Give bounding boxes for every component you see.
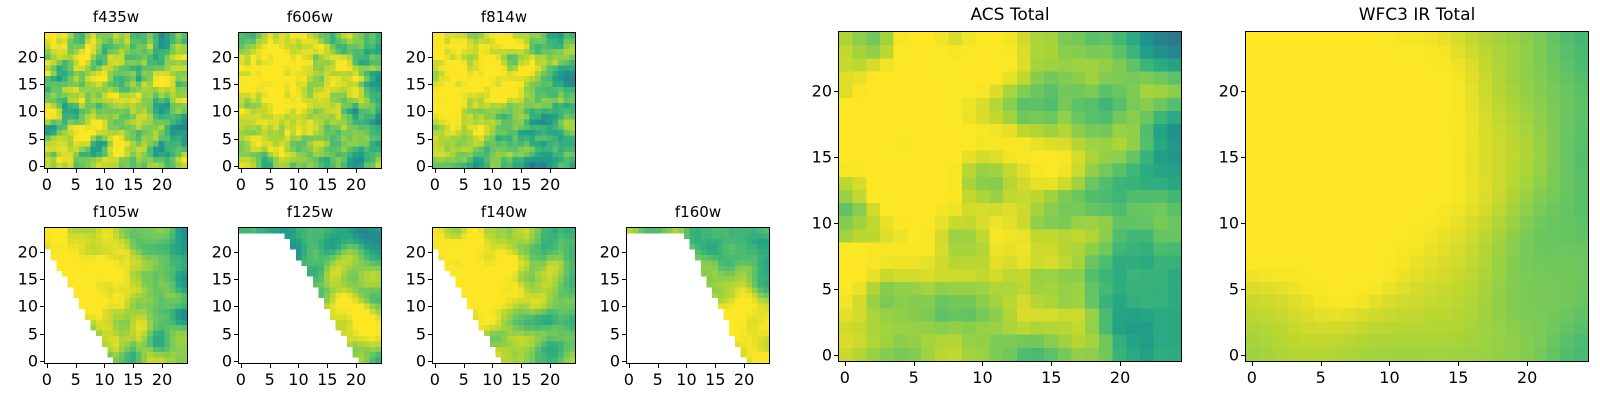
y-tick-mark — [428, 334, 432, 335]
y-tick-mark — [40, 334, 44, 335]
y-tick-mark — [834, 223, 838, 224]
x-tick-mark — [1120, 362, 1121, 366]
y-tick-label: 0 — [1199, 346, 1239, 365]
y-tick-label: 15 — [192, 75, 232, 94]
y-tick-label: 20 — [192, 47, 232, 66]
panel-title-f160w: f160w — [626, 203, 770, 221]
plot-area-f105w — [44, 227, 188, 364]
x-tick-label: 20 — [152, 370, 172, 389]
plot-area-f140w — [432, 227, 576, 364]
x-tick-label: 10 — [482, 175, 502, 194]
x-tick-label: 10 — [1379, 368, 1399, 387]
y-tick-mark — [622, 361, 626, 362]
x-tick-mark — [162, 169, 163, 173]
y-tick-mark — [40, 306, 44, 307]
heatmap-image-f814w — [433, 33, 575, 168]
x-tick-label: 5 — [71, 370, 81, 389]
x-tick-label: 20 — [346, 175, 366, 194]
x-tick-label: 10 — [94, 175, 114, 194]
y-tick-label: 0 — [386, 352, 426, 371]
x-tick-mark — [1252, 362, 1253, 366]
x-tick-mark — [521, 169, 522, 173]
x-tick-mark — [550, 364, 551, 368]
heatmap-image-f140w — [433, 228, 575, 363]
y-tick-label: 20 — [1199, 81, 1239, 100]
x-tick-label: 10 — [676, 370, 696, 389]
heatmap-image-f125w — [239, 228, 381, 363]
x-tick-label: 10 — [482, 370, 502, 389]
y-tick-label: 5 — [192, 129, 232, 148]
x-tick-mark — [104, 169, 105, 173]
y-tick-label: 15 — [792, 147, 832, 166]
y-tick-label: 20 — [386, 242, 426, 261]
x-tick-label: 10 — [972, 368, 992, 387]
y-tick-label: 15 — [580, 270, 620, 289]
x-tick-mark — [298, 364, 299, 368]
y-tick-mark — [834, 91, 838, 92]
x-tick-label: 10 — [288, 175, 308, 194]
y-tick-mark — [428, 111, 432, 112]
y-tick-mark — [234, 57, 238, 58]
x-tick-label: 0 — [42, 175, 52, 194]
heatmap-image-f606w — [239, 33, 381, 168]
x-tick-mark — [914, 362, 915, 366]
y-tick-label: 10 — [0, 102, 38, 121]
y-tick-mark — [1241, 223, 1245, 224]
y-tick-mark — [834, 157, 838, 158]
x-tick-label: 15 — [511, 175, 531, 194]
y-tick-label: 20 — [386, 47, 426, 66]
plot-area-wfc3_ir_total — [1245, 31, 1589, 362]
x-tick-label: 20 — [1517, 368, 1537, 387]
x-tick-label: 0 — [1247, 368, 1257, 387]
x-tick-mark — [464, 364, 465, 368]
heatmap-image-wfc3_ir_total — [1246, 32, 1588, 361]
y-tick-mark — [834, 355, 838, 356]
y-tick-label: 10 — [386, 102, 426, 121]
x-tick-label: 15 — [1448, 368, 1468, 387]
x-tick-mark — [327, 169, 328, 173]
x-tick-label: 0 — [236, 175, 246, 194]
figure-canvas: f435w0510152005101520f606w05101520051015… — [0, 0, 1600, 400]
x-tick-mark — [356, 169, 357, 173]
plot-area-f435w — [44, 32, 188, 169]
x-tick-mark — [133, 364, 134, 368]
x-tick-label: 15 — [317, 175, 337, 194]
x-tick-label: 5 — [265, 175, 275, 194]
x-tick-label: 0 — [42, 370, 52, 389]
y-tick-label: 10 — [0, 297, 38, 316]
y-tick-label: 10 — [1199, 213, 1239, 232]
y-tick-label: 10 — [192, 102, 232, 121]
y-tick-label: 0 — [792, 346, 832, 365]
plot-area-acs_total — [838, 31, 1182, 362]
x-tick-label: 5 — [653, 370, 663, 389]
y-tick-label: 5 — [792, 280, 832, 299]
heatmap-image-f435w — [45, 33, 187, 168]
x-tick-mark — [104, 364, 105, 368]
x-tick-label: 20 — [1110, 368, 1130, 387]
y-tick-label: 20 — [192, 242, 232, 261]
y-tick-label: 10 — [792, 213, 832, 232]
x-tick-mark — [327, 364, 328, 368]
x-tick-mark — [270, 169, 271, 173]
plot-area-f814w — [432, 32, 576, 169]
y-tick-label: 15 — [0, 75, 38, 94]
y-tick-label: 5 — [0, 324, 38, 343]
y-tick-label: 20 — [580, 242, 620, 261]
y-tick-mark — [622, 279, 626, 280]
x-tick-label: 5 — [459, 370, 469, 389]
y-tick-mark — [1241, 355, 1245, 356]
plot-area-f606w — [238, 32, 382, 169]
y-tick-label: 20 — [0, 242, 38, 261]
x-tick-label: 5 — [265, 370, 275, 389]
y-tick-mark — [234, 139, 238, 140]
x-tick-label: 5 — [71, 175, 81, 194]
y-tick-label: 0 — [0, 352, 38, 371]
y-tick-label: 5 — [386, 129, 426, 148]
y-tick-mark — [1241, 289, 1245, 290]
x-tick-label: 10 — [94, 370, 114, 389]
panel-title-f606w: f606w — [238, 8, 382, 26]
y-tick-label: 10 — [386, 297, 426, 316]
x-tick-mark — [521, 364, 522, 368]
x-tick-label: 15 — [317, 370, 337, 389]
panel-title-f140w: f140w — [432, 203, 576, 221]
x-tick-mark — [629, 364, 630, 368]
x-tick-label: 20 — [346, 370, 366, 389]
y-tick-mark — [234, 252, 238, 253]
x-tick-mark — [744, 364, 745, 368]
x-tick-mark — [1051, 362, 1052, 366]
x-tick-label: 15 — [123, 370, 143, 389]
x-tick-mark — [270, 364, 271, 368]
y-tick-label: 0 — [386, 157, 426, 176]
panel-title-acs_total: ACS Total — [838, 5, 1182, 25]
y-tick-mark — [834, 289, 838, 290]
x-tick-mark — [241, 364, 242, 368]
x-tick-mark — [47, 169, 48, 173]
x-tick-label: 5 — [459, 175, 469, 194]
y-tick-mark — [40, 279, 44, 280]
x-tick-mark — [845, 362, 846, 366]
x-tick-label: 10 — [288, 370, 308, 389]
y-tick-mark — [234, 166, 238, 167]
x-tick-label: 15 — [1041, 368, 1061, 387]
x-tick-mark — [464, 169, 465, 173]
x-tick-mark — [1321, 362, 1322, 366]
y-tick-mark — [622, 334, 626, 335]
x-tick-label: 0 — [840, 368, 850, 387]
y-tick-mark — [428, 166, 432, 167]
y-tick-label: 5 — [386, 324, 426, 343]
heatmap-image-f105w — [45, 228, 187, 363]
x-tick-label: 0 — [624, 370, 634, 389]
y-tick-mark — [234, 306, 238, 307]
y-tick-label: 0 — [0, 157, 38, 176]
x-tick-mark — [1458, 362, 1459, 366]
x-tick-mark — [133, 169, 134, 173]
panel-title-f105w: f105w — [44, 203, 188, 221]
y-tick-label: 15 — [386, 270, 426, 289]
y-tick-label: 20 — [792, 81, 832, 100]
plot-area-f160w — [626, 227, 770, 364]
x-tick-mark — [356, 364, 357, 368]
panel-title-f435w: f435w — [44, 8, 188, 26]
x-tick-label: 5 — [1316, 368, 1326, 387]
x-tick-label: 0 — [430, 175, 440, 194]
y-tick-mark — [234, 84, 238, 85]
x-tick-mark — [658, 364, 659, 368]
x-tick-mark — [686, 364, 687, 368]
x-tick-label: 5 — [909, 368, 919, 387]
y-tick-label: 15 — [192, 270, 232, 289]
y-tick-mark — [428, 252, 432, 253]
x-tick-mark — [715, 364, 716, 368]
panel-title-f125w: f125w — [238, 203, 382, 221]
x-tick-mark — [982, 362, 983, 366]
y-tick-mark — [428, 306, 432, 307]
x-tick-label: 20 — [540, 175, 560, 194]
y-tick-mark — [622, 306, 626, 307]
x-tick-label: 15 — [511, 370, 531, 389]
plot-area-f125w — [238, 227, 382, 364]
y-tick-mark — [428, 279, 432, 280]
y-tick-mark — [40, 166, 44, 167]
x-tick-mark — [1527, 362, 1528, 366]
x-tick-mark — [550, 169, 551, 173]
x-tick-mark — [1389, 362, 1390, 366]
y-tick-mark — [428, 139, 432, 140]
y-tick-label: 5 — [192, 324, 232, 343]
y-tick-label: 5 — [1199, 280, 1239, 299]
x-tick-mark — [47, 364, 48, 368]
x-tick-label: 0 — [236, 370, 246, 389]
x-tick-mark — [298, 169, 299, 173]
y-tick-mark — [40, 57, 44, 58]
y-tick-label: 15 — [1199, 147, 1239, 166]
y-tick-mark — [1241, 91, 1245, 92]
x-tick-mark — [435, 364, 436, 368]
y-tick-mark — [622, 252, 626, 253]
x-tick-mark — [162, 364, 163, 368]
y-tick-label: 15 — [386, 75, 426, 94]
y-tick-mark — [40, 361, 44, 362]
y-tick-label: 0 — [192, 157, 232, 176]
x-tick-mark — [492, 169, 493, 173]
x-tick-mark — [435, 169, 436, 173]
heatmap-image-acs_total — [839, 32, 1181, 361]
y-tick-label: 5 — [0, 129, 38, 148]
y-tick-label: 10 — [192, 297, 232, 316]
panel-title-f814w: f814w — [432, 8, 576, 26]
x-tick-mark — [492, 364, 493, 368]
panel-title-wfc3_ir_total: WFC3 IR Total — [1245, 5, 1589, 25]
x-tick-label: 15 — [705, 370, 725, 389]
x-tick-mark — [76, 364, 77, 368]
y-tick-mark — [428, 57, 432, 58]
y-tick-mark — [40, 252, 44, 253]
x-tick-label: 20 — [540, 370, 560, 389]
x-tick-label: 15 — [123, 175, 143, 194]
y-tick-label: 20 — [0, 47, 38, 66]
y-tick-mark — [1241, 157, 1245, 158]
y-tick-label: 15 — [0, 270, 38, 289]
x-tick-label: 20 — [152, 175, 172, 194]
y-tick-label: 10 — [580, 297, 620, 316]
y-tick-mark — [234, 111, 238, 112]
y-tick-mark — [40, 111, 44, 112]
y-tick-label: 0 — [192, 352, 232, 371]
x-tick-mark — [76, 169, 77, 173]
y-tick-mark — [234, 361, 238, 362]
y-tick-label: 0 — [580, 352, 620, 371]
y-tick-mark — [428, 361, 432, 362]
y-tick-mark — [234, 334, 238, 335]
x-tick-label: 20 — [734, 370, 754, 389]
y-tick-label: 5 — [580, 324, 620, 343]
x-tick-label: 0 — [430, 370, 440, 389]
y-tick-mark — [40, 139, 44, 140]
y-tick-mark — [234, 279, 238, 280]
y-tick-mark — [40, 84, 44, 85]
y-tick-mark — [428, 84, 432, 85]
x-tick-mark — [241, 169, 242, 173]
heatmap-image-f160w — [627, 228, 769, 363]
